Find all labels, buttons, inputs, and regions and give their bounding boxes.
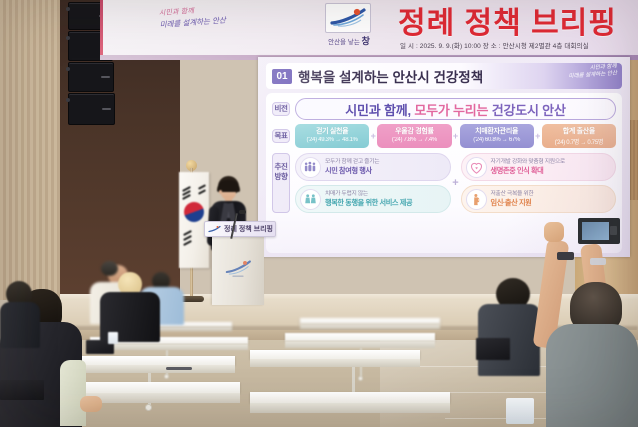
goal-connector: +: [452, 124, 460, 148]
strategy-card-grid: 모두가 함께 걷고 즐기는 시민 참여형 행사: [295, 153, 616, 213]
audience-table-edge: [60, 365, 235, 373]
goal-card-value: ('24) 0.7명 → 0.75명: [543, 137, 615, 146]
banner-subtitle: 일 시 : 2025. 9. 9.(화) 10:00 장 소 : 안산시청 제2…: [400, 40, 638, 50]
banner-title: 정례 정책 브리핑: [398, 0, 638, 40]
city-slogan-handwriting: 시민과 함께 미래를 설계하는 안산: [159, 0, 282, 54]
camera-screen: [582, 222, 609, 240]
goal-tag: 목표: [272, 129, 290, 144]
camera-grip: [610, 226, 617, 235]
strategy-row: 추진방향: [272, 153, 616, 213]
table-caster: [358, 376, 363, 381]
vision-row: 비전 시민과 함께, 모두가 누리는 건강도시 안산: [272, 98, 616, 120]
vision-box: 시민과 함께, 모두가 누리는 건강도시 안산: [295, 98, 616, 120]
strategy-card-text: 자기개발 강화와 맞춤형 지원으로 생명존중 인식 확대: [491, 159, 565, 175]
south-korea-taegeukgi-flag: [179, 172, 209, 268]
wristwatch: [557, 252, 574, 260]
audience-torso: [0, 302, 40, 348]
heart-shield-icon: ♥: [466, 157, 487, 178]
vision-text-part3: 건강도시 안산: [492, 103, 566, 118]
goal-card-title: 걷기 실천율: [296, 126, 368, 136]
paper-cup: [108, 332, 118, 344]
goal-card: 합계 출산율 ('24) 0.7명 → 0.75명: [542, 124, 616, 148]
emblem-caption-prefix: 안산을 낳는: [328, 39, 360, 46]
goal-card-list: 걷기 실천율 ('24) 49.3% → 48.1% + 우울감 경험률 ('2…: [295, 124, 616, 148]
strategy-card: 치매가 두렵지 않는 행복한 동행을 위한 서비스 제공: [295, 185, 451, 213]
strategy-card-text: 치매가 두렵지 않는 행복한 동행을 위한 서비스 제공: [325, 191, 412, 207]
strategy-card-line1: 모두가 함께 걷고 즐기는: [325, 159, 379, 166]
emblem-caption-highlight: 창: [362, 36, 370, 46]
strategy-column-right: ♥ 자기개발 강화와 맞춤형 지원으로 생명존중 인식 확대: [461, 153, 617, 213]
goal-connector: +: [369, 124, 377, 148]
strategy-card: 저출산 극복을 위한 임신·출산 지원: [461, 185, 617, 213]
strategy-card-text: 저출산 극복을 위한 임신·출산 지원: [491, 191, 534, 207]
emblem-caption: 안산을 낳는 창: [303, 34, 395, 47]
strategy-column-left: 모두가 함께 걷고 즐기는 시민 참여형 행사: [295, 153, 451, 213]
strategy-card-line2: 생명존중 인식 확대: [491, 166, 565, 175]
slide-corner-slogan: 시민과 함께 미래를 설계하는 안산: [543, 63, 618, 83]
banner-left-seam: [100, 0, 103, 57]
goal-connector: +: [534, 124, 542, 148]
audience-hand: [80, 396, 102, 412]
trigram-bar: [198, 189, 206, 195]
slide-header: 01 행복을 설계하는 안산시 건강정책 시민과 함께 미래를 설계하는 안산: [266, 63, 622, 89]
strategy-card-line1: 저출산 극복을 위한: [491, 191, 534, 198]
table-caster: [145, 404, 152, 411]
stage-backdrop-banner: 시민과 함께 미래를 설계하는 안산 안산을 낳는 창 정례 정책 브리핑 일 …: [100, 0, 638, 57]
table-caster: [164, 374, 169, 379]
strategy-card-line1: 치매가 두렵지 않는: [325, 191, 412, 198]
goal-card-title: 우울감 경험률: [378, 126, 450, 136]
goal-card: 치매환자관리율 ('24) 60.8% → 67%: [460, 124, 534, 148]
wristband: [590, 258, 606, 265]
photographer-hand-right: [544, 222, 564, 242]
audience-table-edge: [285, 341, 435, 348]
goal-card-value: ('24) 60.8% → 67%: [461, 137, 533, 143]
group-walking-icon: [300, 157, 321, 178]
line-array-loudspeaker: [68, 93, 115, 125]
goal-card: 우울감 경험률 ('24) 7.8% → 7.4%: [377, 124, 451, 148]
podium-sign-emblem-icon: [208, 224, 221, 235]
audience-table: [250, 392, 450, 403]
projection-screen: 01 행복을 설계하는 안산시 건강정책 시민과 함께 미래를 설계하는 안산 …: [258, 57, 630, 257]
strategy-tag: 추진방향: [272, 153, 290, 213]
slide-number-badge: 01: [272, 69, 292, 84]
svg-text:♥: ♥: [475, 165, 478, 170]
paper-cup: [506, 398, 534, 424]
slide-title: 행복을 설계하는 안산시 건강정책: [298, 66, 483, 86]
strategy-card-line2: 시민 참여형 행사: [325, 166, 379, 175]
audience-table-edge: [300, 324, 440, 329]
strategy-card-line1: 자기개발 강화와 맞춤형 지원으로: [491, 159, 565, 166]
pregnant-mother-icon: [466, 189, 487, 210]
goal-card: 걷기 실천율 ('24) 49.3% → 48.1%: [295, 124, 369, 148]
briefing-room-photo: 시민과 함께 미래를 설계하는 안산 안산을 낳는 창 정례 정책 브리핑 일 …: [0, 0, 638, 427]
laptop: [476, 338, 510, 360]
goal-card-value: ('24) 49.3% → 48.1%: [296, 137, 368, 143]
strategy-card: ♥ 자기개발 강화와 맞춤형 지원으로 생명존중 인식 확대: [461, 153, 617, 181]
audience-table-edge: [250, 403, 450, 413]
audience-head: [101, 261, 118, 276]
photographer-shirt: [546, 324, 638, 427]
trigram-bar: [183, 240, 192, 246]
goal-row: 목표 걷기 실천율 ('24) 49.3% → 48.1% + 우울감 경험률 …: [272, 124, 616, 148]
audience-table: [250, 350, 420, 359]
vision-text: 시민과 함께, 모두가 누리는 건강도시 안산: [345, 100, 565, 119]
strategy-connector: +: [451, 177, 461, 189]
strategy-card-line2: 임신·출산 지원: [491, 198, 534, 207]
audience-table-edge: [250, 359, 420, 367]
audience-table: [285, 333, 435, 341]
taegeuk-circle: [181, 199, 207, 225]
slide-body: 비전 시민과 함께, 모두가 누리는 건강도시 안산 목표 걷기 실: [266, 93, 622, 253]
elderly-couple-icon: [300, 189, 321, 210]
line-array-loudspeaker: [68, 62, 114, 92]
podium-sign: 정례 정책 브리핑: [204, 221, 276, 237]
presentation-slide: 01 행복을 설계하는 안산시 건강정책 시민과 함께 미래를 설계하는 안산 …: [258, 57, 630, 257]
audience-table: [60, 356, 235, 365]
goal-card-value: ('24) 7.8% → 7.4%: [378, 137, 450, 143]
ansan-city-emblem-icon: [224, 258, 252, 284]
goal-card-title: 치매환자관리율: [461, 126, 533, 136]
vision-text-part2: 모두가 누리는: [414, 103, 488, 118]
vision-text-part1: 시민과 함께,: [345, 103, 411, 118]
wall-ribbed-left: [0, 0, 66, 300]
strategy-card-text: 모두가 함께 걷고 즐기는 시민 참여형 행사: [325, 159, 379, 175]
strategy-card-line2: 행복한 동행을 위한 서비스 제공: [325, 198, 412, 207]
strategy-card: 모두가 함께 걷고 즐기는 시민 참여형 행사: [295, 153, 451, 181]
ansan-city-emblem-icon: [325, 3, 371, 33]
pen: [166, 367, 192, 370]
goal-card-title: 합계 출산율: [543, 126, 615, 136]
laptop: [0, 380, 44, 400]
vision-tag: 비전: [272, 102, 290, 117]
audience-table-edge: [150, 327, 232, 331]
microphone-head: [239, 210, 246, 214]
presenter-ear: [219, 190, 222, 194]
audience-sleeve: [60, 360, 86, 426]
